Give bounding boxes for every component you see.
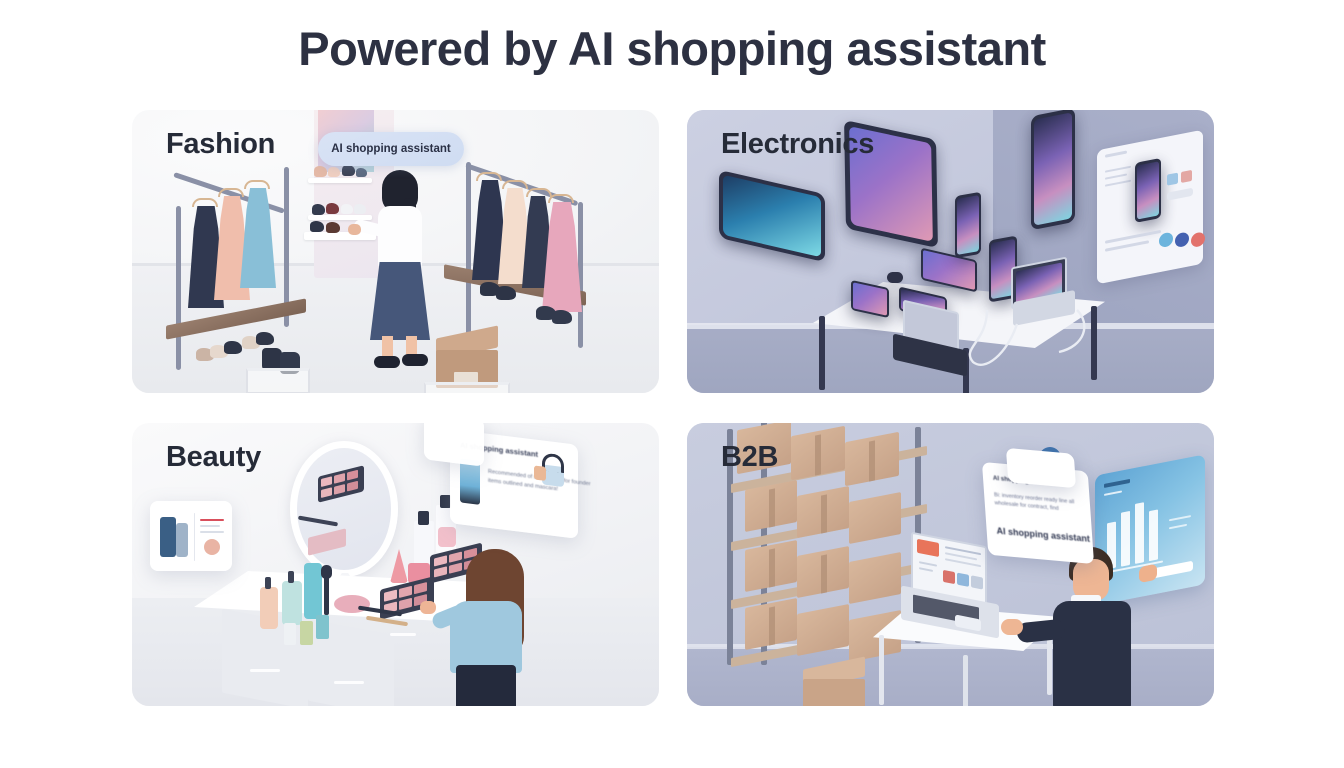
fashion-stool	[246, 368, 310, 393]
fashion-shelf-upper	[308, 178, 372, 183]
beauty-palette-cell	[334, 473, 345, 484]
beauty-palette-cell	[347, 481, 358, 492]
beauty-product-card[interactable]	[150, 501, 232, 571]
fashion-dress-blue	[240, 188, 276, 288]
beauty-palette-cell	[414, 582, 427, 594]
fashion-shopper-shoe	[374, 356, 400, 368]
b2b-floor-carton-front	[803, 679, 865, 706]
category-panel-grid: AI shopping assistant Fashion	[132, 110, 1214, 706]
fashion-shelf-shoe	[314, 166, 327, 177]
electronics-card-button[interactable]	[1167, 188, 1193, 201]
electronics-product-card[interactable]	[1097, 130, 1203, 285]
b2b-laptop-thumb	[957, 573, 969, 587]
beauty-shopper-hand	[420, 601, 436, 614]
b2b-dashboard-legend	[1169, 524, 1187, 529]
beauty-card-line	[200, 531, 224, 533]
beauty-assistant-card-behind	[424, 423, 484, 467]
panel-beauty[interactable]: AI shopping assistant Recommended of ski…	[132, 423, 659, 706]
beauty-card-line	[200, 525, 220, 527]
b2b-assistant-speech-bottom: AI shopping assistant	[996, 525, 1090, 543]
beauty-mirror	[290, 441, 398, 577]
beauty-palette-cell	[399, 586, 412, 598]
beauty-makeup-brush-head	[321, 565, 332, 579]
b2b-dashboard-bar	[1149, 509, 1158, 561]
b2b-dashboard-bar	[1135, 502, 1144, 564]
beauty-pump-nozzle	[288, 571, 294, 583]
fashion-hanger	[192, 198, 218, 207]
b2b-laptop-thumb	[971, 575, 983, 589]
fashion-shelf-shoe	[354, 204, 366, 214]
electronics-wall-phone-screen	[1034, 112, 1072, 225]
fashion-rack-left-post	[176, 206, 181, 370]
fashion-shelf-shoe	[341, 204, 353, 214]
fashion-shelf-shoe	[326, 203, 339, 214]
fashion-shopper-shoe	[402, 354, 428, 366]
fashion-display-heel	[552, 310, 572, 324]
fashion-shelf-shoe	[310, 221, 324, 232]
beauty-palette-cell	[321, 487, 332, 498]
b2b-carton-tape	[821, 554, 827, 593]
beauty-drawer-handle[interactable]	[390, 633, 416, 636]
fashion-shelf-shoe	[326, 222, 340, 233]
beauty-pink-label	[438, 527, 456, 547]
fashion-hanger	[476, 172, 502, 181]
b2b-dashboard-legend	[1169, 515, 1191, 521]
electronics-card-line	[1105, 173, 1127, 179]
b2b-person-jacket	[1053, 601, 1131, 706]
panel-label-electronics: Electronics	[721, 128, 874, 161]
electronics-color-swatch[interactable]	[1191, 231, 1205, 248]
beauty-palette-cell	[434, 566, 447, 577]
beauty-drawer-handle[interactable]	[334, 681, 364, 684]
electronics-card-thumb[interactable]	[1181, 170, 1192, 183]
beauty-palette-cell	[434, 555, 447, 566]
beauty-nail-polish	[284, 623, 296, 645]
fashion-shelf-shoe	[356, 168, 367, 177]
beauty-nail-polish	[300, 621, 313, 645]
b2b-assistant-speech-body: Bi: inventory reorder ready line all who…	[994, 491, 1095, 516]
panel-label-beauty: Beauty	[166, 441, 261, 474]
b2b-dashboard-title	[1104, 479, 1130, 488]
beauty-palette-cell	[347, 470, 358, 481]
electronics-table-leg	[819, 316, 825, 390]
electronics-card-line	[1105, 166, 1131, 173]
panel-fashion[interactable]: AI shopping assistant Fashion	[132, 110, 659, 393]
beauty-card-product	[160, 517, 176, 557]
panel-electronics[interactable]: Electronics	[687, 110, 1214, 393]
electronics-card-thumb[interactable]	[1167, 173, 1178, 186]
b2b-laptop-text-line	[919, 561, 937, 566]
fashion-shopper-top	[378, 206, 422, 268]
b2b-dashboard-cursor	[1139, 564, 1157, 583]
fashion-rack-right-post	[466, 162, 471, 336]
beauty-spray-bottle-teal	[304, 563, 322, 619]
electronics-standing-phone-a-screen	[957, 195, 979, 255]
beauty-palette-cell	[449, 563, 462, 574]
fashion-display-shoe	[256, 332, 274, 345]
fashion-hanger	[218, 188, 244, 197]
poster-canvas: Powered by AI shopping assistant	[0, 0, 1344, 768]
fashion-hanger	[502, 180, 528, 189]
fashion-boot	[262, 348, 282, 370]
electronics-card-line	[1105, 180, 1131, 187]
fashion-shelf-shoe	[342, 165, 355, 176]
beauty-card-avatar	[204, 539, 220, 555]
beauty-pump-bottle-peach	[260, 587, 278, 629]
b2b-laptop-text-line	[919, 567, 933, 572]
fashion-table	[424, 382, 510, 393]
fashion-shelf-shoe	[312, 204, 325, 215]
b2b-carton-tape	[815, 434, 821, 475]
beauty-palette-cell	[449, 552, 462, 563]
b2b-laptop-accent	[917, 539, 939, 557]
b2b-carton-tape	[821, 494, 827, 533]
b2b-desk-leg	[879, 635, 884, 705]
fashion-shelf-shoe	[328, 167, 340, 177]
b2b-desk-leg	[963, 655, 968, 706]
panel-b2b[interactable]: AI shopping assistant Bi: inventory reor…	[687, 423, 1214, 706]
electronics-card-title-line	[1105, 150, 1127, 157]
b2b-carton-tape	[769, 548, 775, 587]
b2b-dashboard-cta[interactable]	[1153, 561, 1193, 579]
electronics-card-line	[1105, 230, 1161, 244]
b2b-assistant-speech-behind	[1006, 448, 1076, 488]
beauty-card-lock-accent	[534, 465, 546, 480]
b2b-carton-tape	[769, 488, 775, 527]
panel-label-b2b: B2B	[721, 441, 778, 474]
b2b-dashboard-bar	[1121, 511, 1130, 567]
electronics-standing-phone-a[interactable]	[955, 192, 981, 259]
beauty-pump-bottle-mint	[282, 581, 302, 625]
beauty-palette-cell	[399, 598, 412, 610]
electronics-card-phone-screen	[1137, 161, 1159, 219]
fashion-display-heel	[496, 286, 516, 300]
beauty-card-line	[200, 519, 224, 521]
fashion-hanger	[548, 194, 574, 203]
b2b-person-hand	[1001, 619, 1023, 635]
b2b-carton-tape	[869, 440, 875, 481]
electronics-tablet-small-screen	[853, 282, 887, 315]
electronics-table-leg	[1091, 306, 1097, 380]
beauty-palette-cell	[384, 589, 397, 601]
electronics-card-phone-image	[1135, 158, 1161, 223]
b2b-dashboard[interactable]	[1095, 454, 1205, 605]
fashion-display-shoe	[224, 341, 242, 354]
beauty-card-divider	[194, 513, 195, 561]
beauty-cone-product	[390, 549, 408, 583]
fashion-assistant-chip-label: AI shopping assistant	[331, 143, 451, 155]
electronics-color-swatch[interactable]	[1159, 232, 1173, 249]
beauty-pump-nozzle	[265, 577, 271, 589]
beauty-palette-cell	[334, 484, 345, 495]
beauty-card-product	[176, 523, 188, 557]
b2b-dashboard-subtitle	[1104, 490, 1122, 495]
beauty-nail-polish	[316, 615, 329, 639]
beauty-shopper-trousers	[456, 665, 516, 706]
fashion-hanger	[526, 188, 552, 197]
b2b-carton-tape	[769, 606, 775, 645]
fashion-shopper-skirt	[370, 262, 430, 340]
b2b-laptop-thumb	[943, 570, 955, 584]
page-title: Powered by AI shopping assistant	[0, 18, 1344, 80]
panel-label-fashion: Fashion	[166, 128, 275, 161]
beauty-drawer-handle[interactable]	[250, 669, 280, 672]
fashion-shopper-hand	[348, 224, 361, 235]
electronics-color-swatch[interactable]	[1175, 231, 1189, 248]
fashion-hanger	[244, 180, 270, 189]
beauty-tall-bottle-cap	[418, 511, 429, 525]
beauty-palette-cell	[321, 476, 332, 487]
fashion-assistant-chip[interactable]: AI shopping assistant	[318, 132, 464, 166]
electronics-mouse[interactable]	[887, 272, 903, 283]
electronics-wall-phone[interactable]	[1031, 110, 1075, 230]
